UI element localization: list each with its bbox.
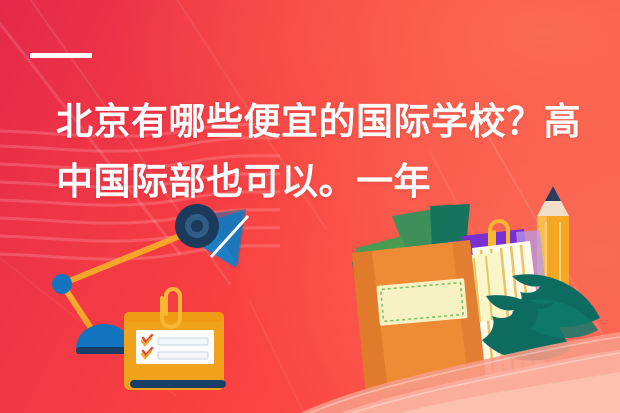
study-desk-illustration bbox=[0, 0, 620, 413]
clipboard-checklist bbox=[124, 289, 226, 390]
article-cover-banner: 北京有哪些便宜的国际学校？高中国际部也可以。一年 bbox=[0, 0, 620, 413]
